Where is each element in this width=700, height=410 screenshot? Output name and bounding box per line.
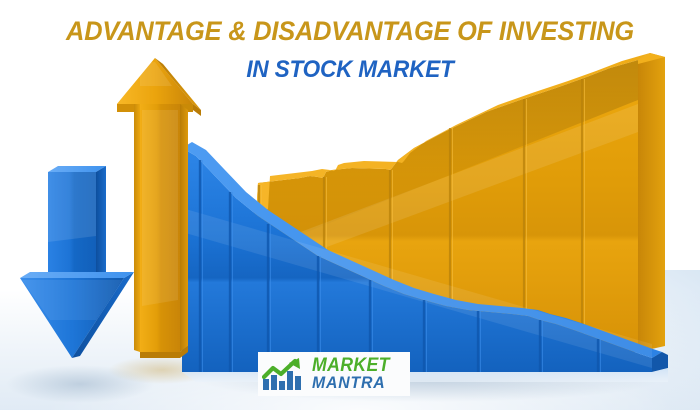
up-arrow-sheen [142, 110, 178, 306]
chart-growth-icon [262, 357, 308, 391]
page-title: ADVANTAGE & DISADVANTAGE OF INVESTING [21, 16, 679, 47]
logo-wordmark: MARKET MANTRA [312, 357, 390, 390]
up-arrow-shaft-left [134, 104, 140, 352]
market-mantra-logo[interactable]: MARKET MANTRA [258, 352, 410, 396]
logo-word-bottom: MANTRA [312, 375, 390, 391]
up-arrow-shaft-side [180, 104, 188, 352]
infographic-canvas: ADVANTAGE & DISADVANTAGE OF INVESTING IN… [0, 0, 700, 410]
page-subtitle: IN STOCK MARKET [21, 56, 679, 84]
